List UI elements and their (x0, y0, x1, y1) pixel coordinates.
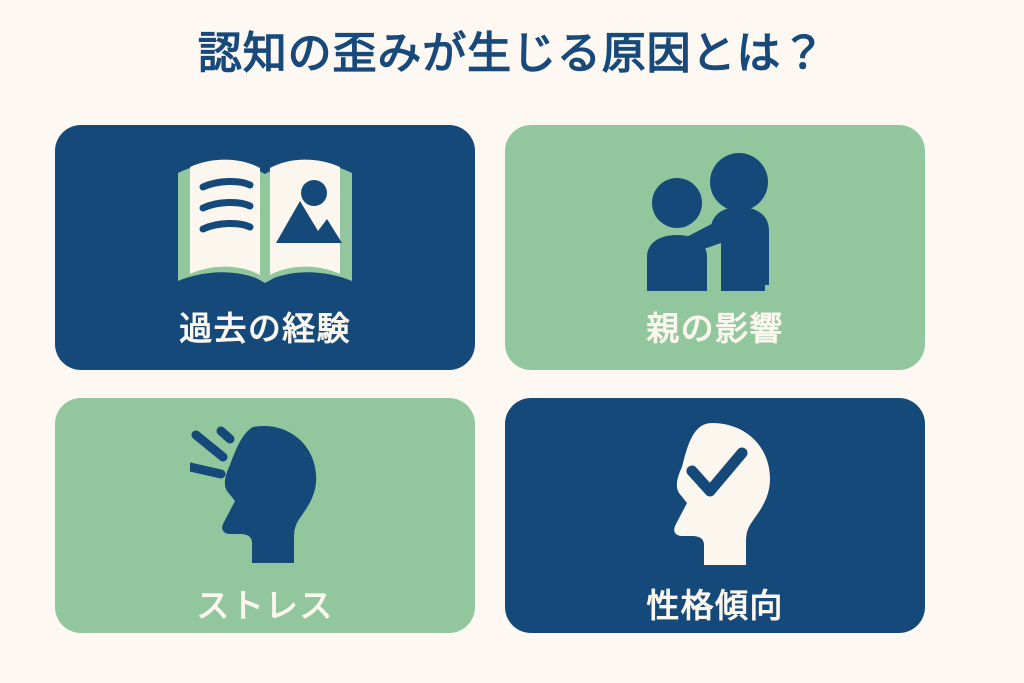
infographic-poster: 認知の歪みが生じる原因とは？ (0, 0, 1024, 683)
cause-card-label: 性格傾向 (646, 588, 783, 624)
cause-card-label: 親の影響 (646, 311, 783, 347)
cause-card-stress[interactable]: ストレス (55, 398, 475, 633)
head-with-checkmark-icon (650, 420, 780, 570)
cause-card-label: ストレス (196, 588, 333, 624)
open-book-icon (170, 151, 360, 301)
cause-card-label: 過去の経験 (179, 311, 351, 347)
stressed-head-icon (190, 420, 340, 570)
cause-card-personality[interactable]: 性格傾向 (505, 398, 925, 633)
cause-card-parental-influence[interactable]: 親の影響 (505, 125, 925, 370)
parent-and-child-icon (635, 151, 795, 301)
cause-card-grid: 過去の経験 親の影響 (55, 125, 925, 633)
page-title: 認知の歪みが生じる原因とは？ (0, 30, 1024, 78)
cause-card-past-experience[interactable]: 過去の経験 (55, 125, 475, 370)
